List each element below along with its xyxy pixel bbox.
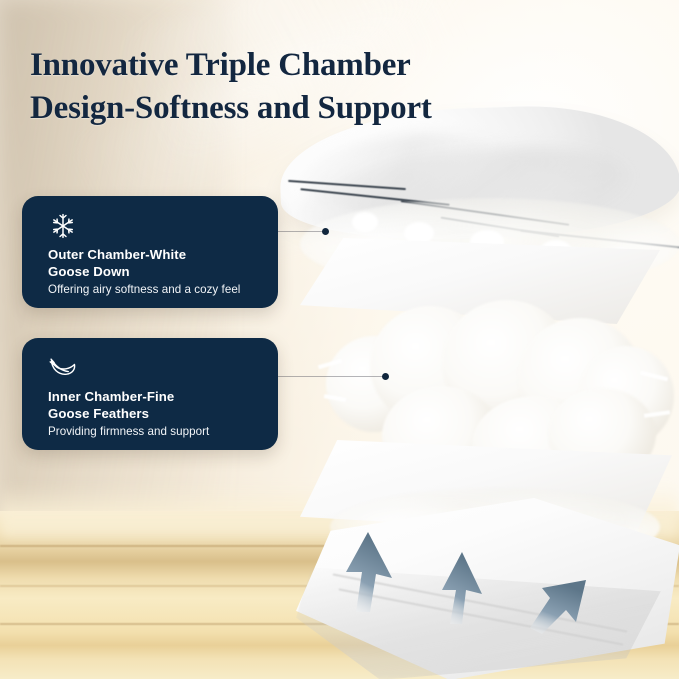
airflow-arrow-icon bbox=[524, 558, 604, 634]
down-tuft bbox=[352, 212, 378, 232]
page-title: Innovative Triple Chamber Design-Softnes… bbox=[30, 44, 630, 130]
feather-icon bbox=[48, 354, 78, 382]
feature-card-subtitle: Providing firmness and support bbox=[48, 424, 260, 439]
snowflake-icon bbox=[48, 212, 78, 240]
airflow-arrow-icon bbox=[336, 528, 406, 614]
infographic-canvas: Innovative Triple Chamber Design-Softnes… bbox=[0, 0, 679, 679]
callout-connector-line bbox=[278, 231, 324, 232]
feature-card-inner-chamber[interactable]: Inner Chamber-Fine Goose Feathers Provid… bbox=[22, 338, 278, 450]
airflow-arrow-icon bbox=[432, 548, 498, 626]
feature-card-subtitle: Offering airy softness and a cozy feel bbox=[48, 282, 260, 297]
feature-card-outer-chamber[interactable]: Outer Chamber-White Goose Down Offering … bbox=[22, 196, 278, 308]
feature-card-title: Inner Chamber-Fine Goose Feathers bbox=[48, 389, 260, 422]
callout-connector-line bbox=[278, 376, 384, 377]
feature-card-title: Outer Chamber-White Goose Down bbox=[48, 247, 260, 280]
callout-connector-dot bbox=[322, 228, 329, 235]
callout-connector-dot bbox=[382, 373, 389, 380]
